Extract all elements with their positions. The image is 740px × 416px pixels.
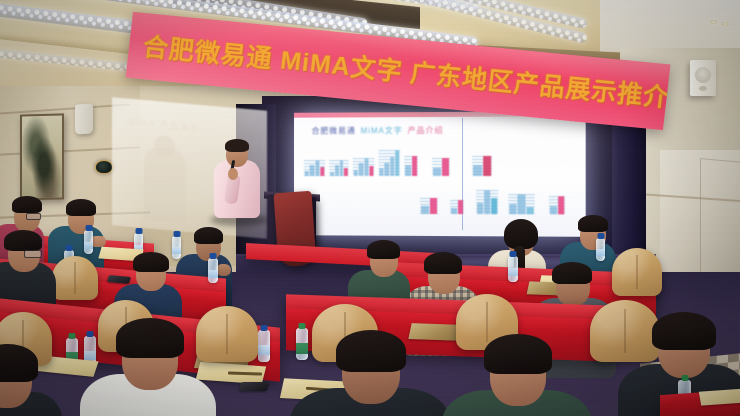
bottle-cap xyxy=(135,228,142,234)
eyeglasses-icon xyxy=(24,250,42,258)
chart-bar xyxy=(369,166,373,176)
person-hair xyxy=(424,252,462,274)
person-hair xyxy=(194,227,223,244)
chart-bar xyxy=(421,206,428,214)
chart-bar xyxy=(395,150,399,176)
chart-bar xyxy=(412,156,417,176)
bottle-cap xyxy=(299,323,306,329)
chart-bar xyxy=(458,200,464,214)
person-hair xyxy=(133,252,169,272)
bottle-cap xyxy=(597,233,604,239)
bottle-cap xyxy=(66,245,73,251)
chart-bar xyxy=(509,204,516,214)
chart-bar xyxy=(359,163,363,176)
bottle-cap xyxy=(85,225,92,231)
chart-bar xyxy=(385,163,389,176)
ceiling-spotlight-icon xyxy=(722,22,729,26)
bottle-label xyxy=(172,247,181,254)
smartphone xyxy=(239,382,270,391)
mini-bar-chart-11 xyxy=(508,194,534,214)
chart-bar xyxy=(310,165,314,176)
ceiling-spotlight-icon xyxy=(710,20,717,24)
bottle-cap xyxy=(510,251,517,257)
bottle-label xyxy=(296,343,308,354)
bottle-cap xyxy=(210,253,217,259)
conference-room-photo: MiMA 产品演示 合肥微易通 MiMA文字 产品介绍 合肥微易通 MiMA文字… xyxy=(0,0,740,416)
person-hair xyxy=(484,334,552,374)
chart-bar xyxy=(441,158,448,176)
eyeglasses-icon xyxy=(26,213,41,220)
mini-bar-chart-6 xyxy=(432,158,450,176)
speaker-tweeter xyxy=(699,86,707,91)
right-wall-panel xyxy=(700,158,740,282)
mini-bar-chart-12 xyxy=(549,196,565,214)
bottle-label xyxy=(84,351,96,360)
chart-bar xyxy=(379,168,383,176)
water-bottle xyxy=(208,258,218,283)
person-hair xyxy=(66,199,96,216)
mini-bar-chart-7 xyxy=(472,156,492,176)
person-hair xyxy=(578,215,608,232)
chair xyxy=(612,248,662,296)
person-hair xyxy=(504,219,538,249)
chart-bar xyxy=(477,203,483,214)
chair xyxy=(590,300,660,362)
slide-title-seg-2: MiMA文字 xyxy=(361,125,403,136)
projection-screen: 合肥微易通 MiMA文字 产品介绍 xyxy=(294,111,586,237)
person-hair xyxy=(336,330,406,372)
water-bottle xyxy=(172,236,181,259)
chart-bar xyxy=(405,165,410,176)
mini-bar-chart-1 xyxy=(304,160,325,176)
chart-bar xyxy=(305,171,309,176)
bottle-cap xyxy=(681,375,688,381)
bottle-label xyxy=(596,249,605,256)
speaker-cone xyxy=(695,67,711,83)
wall-speaker-icon xyxy=(690,60,716,96)
chart-bar xyxy=(315,160,319,176)
chart-bar xyxy=(339,160,343,176)
bottle-cap xyxy=(69,333,76,339)
water-bottle xyxy=(596,238,605,261)
chart-bar xyxy=(483,156,492,176)
slide-title-seg-3: 产品介绍 xyxy=(408,124,444,135)
mini-bar-chart-5 xyxy=(404,156,418,176)
chart-bar xyxy=(433,168,440,176)
bottle-cap xyxy=(173,231,180,237)
person-hand xyxy=(216,264,231,276)
projection-silhouette-body xyxy=(144,146,186,224)
chart-bar xyxy=(451,208,457,214)
wall-sconce-icon xyxy=(95,160,113,174)
chart-bar xyxy=(550,206,557,214)
chart-bar xyxy=(526,207,533,214)
water-bottle xyxy=(258,330,270,362)
mini-bar-chart-9 xyxy=(450,200,464,214)
slide-title-seg-1: 合肥微易通 xyxy=(312,125,356,136)
person-hair xyxy=(4,230,42,251)
chart-bar xyxy=(484,190,490,214)
bottle-cap xyxy=(87,331,94,337)
wall-painting xyxy=(20,113,64,200)
chart-bar xyxy=(335,165,339,176)
slide-title: 合肥微易通 MiMA文字 产品介绍 xyxy=(312,123,568,136)
mini-bar-chart-10 xyxy=(476,190,498,214)
water-bottle xyxy=(296,328,308,360)
mini-bar-chart-2 xyxy=(329,160,349,176)
chart-bar xyxy=(430,198,437,214)
mini-bar-chart-3 xyxy=(353,158,375,176)
presenter-hair xyxy=(225,139,249,152)
chart-bar xyxy=(330,172,334,176)
chart-bar xyxy=(473,165,482,176)
chart-bar xyxy=(354,170,358,176)
chart-bar xyxy=(320,167,324,176)
chair xyxy=(196,306,258,362)
side-projection-label: MiMA 产品演示 xyxy=(128,117,200,134)
person-hair xyxy=(116,318,184,358)
person-hair xyxy=(12,196,42,213)
chair xyxy=(52,256,98,300)
notepad xyxy=(699,388,740,405)
bottle-label xyxy=(508,268,518,276)
mini-bar-chart-8 xyxy=(420,198,438,214)
bottle-label xyxy=(84,242,93,249)
bottle-cap xyxy=(261,325,268,331)
person-hair xyxy=(367,240,400,259)
chart-bar xyxy=(518,194,525,214)
water-bottle xyxy=(84,230,93,254)
presenter-hand xyxy=(228,168,238,180)
chart-bar xyxy=(558,196,565,214)
chart-bar xyxy=(344,168,348,176)
bottle-label xyxy=(258,345,270,355)
water-bottle xyxy=(508,256,518,282)
bottle-label xyxy=(208,270,218,278)
chart-bar xyxy=(364,158,368,176)
wall-speaker-icon xyxy=(75,104,93,135)
person-hair xyxy=(552,262,592,284)
mini-bar-chart-4 xyxy=(378,150,400,176)
person-hair xyxy=(652,312,716,350)
chart-bar xyxy=(491,198,497,214)
chart-bar xyxy=(390,157,394,176)
painting-artwork xyxy=(22,115,62,198)
